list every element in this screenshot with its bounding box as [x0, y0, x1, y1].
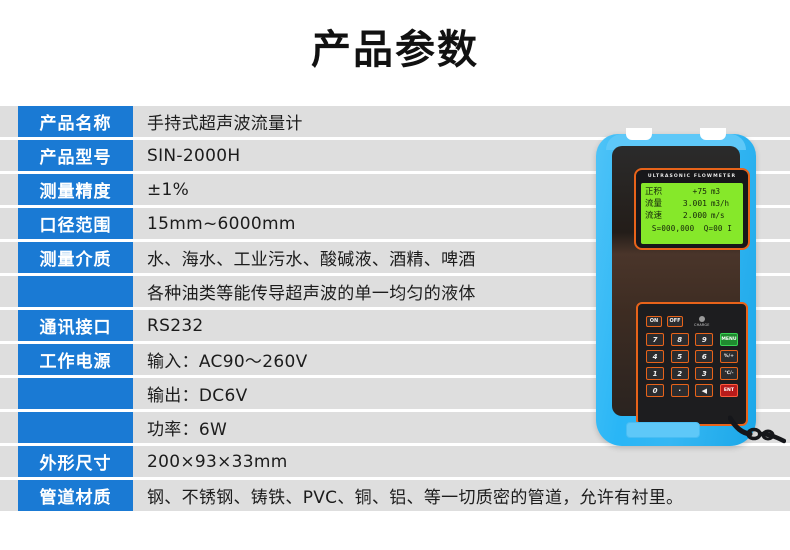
- lcd-label: 正积: [645, 186, 671, 198]
- lcd-unit: m3/h: [711, 198, 729, 210]
- lcd-label: 流量: [645, 198, 671, 210]
- row-label: 管道材质: [18, 480, 133, 511]
- lcd-unit: m3: [711, 186, 720, 198]
- lcd-value: 2.000: [671, 210, 711, 222]
- percent-plus-button[interactable]: %/+: [720, 350, 738, 363]
- charge-label: CHARGE: [694, 323, 710, 327]
- row-label: 口径范围: [18, 208, 133, 239]
- lcd-status-line: S=000,000 Q=00 I: [645, 223, 739, 235]
- key-2[interactable]: 2: [671, 367, 689, 380]
- row-label: 产品名称: [18, 106, 133, 137]
- table-row: 管道材质 钢、不锈钢、铸铁、PVC、铜、铝、等一切质密的管道，允许有衬里。: [0, 480, 790, 511]
- key-0[interactable]: 0: [646, 384, 664, 397]
- key-6[interactable]: 6: [695, 350, 713, 363]
- row-label: [18, 276, 133, 307]
- lcd-line: 正积 +75 m3: [645, 186, 739, 198]
- row-label: 测量精度: [18, 174, 133, 205]
- lcd-line: 流速 2.000 m/s: [645, 210, 739, 222]
- charge-indicator: CHARGE: [694, 316, 710, 327]
- row-value: 钢、不锈钢、铸铁、PVC、铜、铝、等一切质密的管道，允许有衬里。: [133, 483, 790, 508]
- row-value: 200×93×33mm: [133, 452, 790, 472]
- row-label: 工作电源: [18, 344, 133, 375]
- product-device-image: ULTRASONIC FLOWMETER 正积 +75 m3 流量 3.001 …: [596, 128, 756, 446]
- row-label: 测量介质: [18, 242, 133, 273]
- backspace-icon[interactable]: ◀: [695, 384, 713, 397]
- keypad-row: 0 · ◀ ENT: [646, 384, 738, 397]
- key-1[interactable]: 1: [646, 367, 664, 380]
- device-screen-bezel: ULTRASONIC FLOWMETER 正积 +75 m3 流量 3.001 …: [634, 168, 750, 250]
- row-label: 产品型号: [18, 140, 133, 171]
- key-3[interactable]: 3: [695, 367, 713, 380]
- lcd-unit: m/s: [711, 210, 725, 222]
- lcd-line: 流量 3.001 m3/h: [645, 198, 739, 210]
- keypad-row: 7 8 9 MENU: [646, 333, 738, 346]
- device-keypad: ON OFF CHARGE 7 8 9 MENU 4 5 6: [636, 302, 748, 426]
- lcd-display: 正积 +75 m3 流量 3.001 m3/h 流速 2.000 m/s S=: [641, 183, 743, 244]
- device-bottom-lip: [626, 422, 700, 438]
- keypad-row: 4 5 6 %/+: [646, 350, 738, 363]
- key-4[interactable]: 4: [646, 350, 664, 363]
- key-5[interactable]: 5: [671, 350, 689, 363]
- lcd-value: 3.001: [671, 198, 711, 210]
- page-title: 产品参数: [0, 26, 790, 74]
- power-off-button[interactable]: OFF: [667, 316, 683, 327]
- key-9[interactable]: 9: [695, 333, 713, 346]
- celsius-minus-button[interactable]: ℃/-: [720, 367, 738, 380]
- row-label: [18, 378, 133, 409]
- key-decimal-point[interactable]: ·: [671, 384, 689, 397]
- enter-button[interactable]: ENT: [720, 384, 738, 397]
- row-label: [18, 412, 133, 443]
- wrist-strap: [728, 414, 786, 448]
- lcd-label: 流速: [645, 210, 671, 222]
- row-label: 外形尺寸: [18, 446, 133, 477]
- menu-button[interactable]: MENU: [720, 333, 738, 346]
- charge-led-icon: [699, 316, 705, 322]
- product-spec-page: 产品参数 产品名称 手持式超声波流量计 产品型号 SIN-2000H 测量精度 …: [0, 0, 790, 550]
- keypad-row: 1 2 3 ℃/-: [646, 367, 738, 380]
- device-brand-label: ULTRASONIC FLOWMETER: [636, 174, 748, 179]
- lcd-value: +75: [671, 186, 711, 198]
- power-on-button[interactable]: ON: [646, 316, 662, 327]
- key-7[interactable]: 7: [646, 333, 664, 346]
- table-row: 外形尺寸 200×93×33mm: [0, 446, 790, 477]
- device-notch-left: [626, 128, 652, 140]
- key-8[interactable]: 8: [671, 333, 689, 346]
- keypad-power-row: ON OFF CHARGE: [646, 311, 738, 331]
- device-notch-right: [700, 128, 726, 140]
- row-label: 通讯接口: [18, 310, 133, 341]
- device-body: ULTRASONIC FLOWMETER 正积 +75 m3 流量 3.001 …: [612, 146, 740, 416]
